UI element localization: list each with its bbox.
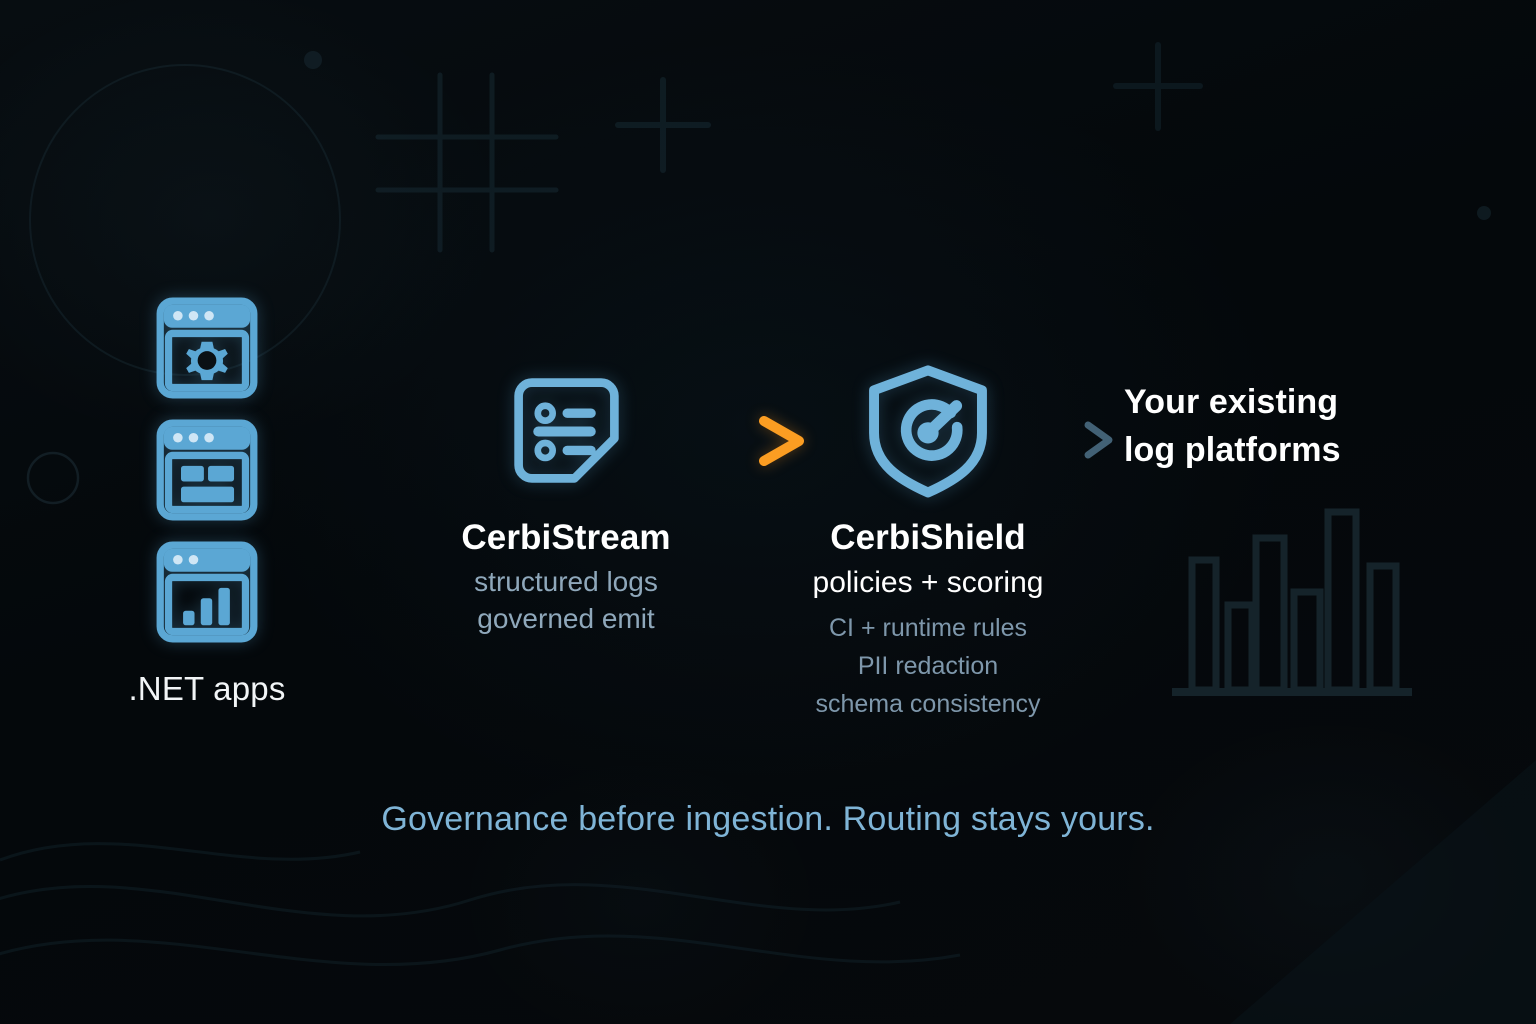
destination-label-line2: log platforms <box>1124 426 1504 474</box>
cerbistream-subtitle-2: governed emit <box>396 600 736 637</box>
cerbishield-subtitle-2: PII redaction <box>758 647 1098 685</box>
document-list-icon <box>500 364 633 497</box>
cerbishield-subtitle-3: schema consistency <box>758 685 1098 723</box>
pipeline-flow: .NET apps CerbiStream structured logs go… <box>0 0 1536 1024</box>
window-layout-icon <box>155 418 259 522</box>
cerbistream-title: CerbiStream <box>396 518 736 557</box>
window-gear-icon <box>155 296 259 400</box>
window-chart-icon <box>155 540 259 644</box>
diagram-canvas: .NET apps CerbiStream structured logs go… <box>0 0 1536 1024</box>
stage-cerbistream: CerbiStream structured logs governed emi… <box>396 360 736 638</box>
shield-gauge-icon <box>857 359 999 501</box>
diagram-caption: Governance before ingestion. Routing sta… <box>0 800 1536 839</box>
cerbishield-title: CerbiShield <box>758 518 1098 557</box>
apps-label: .NET apps <box>52 670 362 708</box>
destination-label: Your existing log platforms <box>1124 378 1504 475</box>
cerbishield-icon-wrap <box>758 360 1098 500</box>
destination-label-line1: Your existing <box>1124 378 1504 426</box>
stage-destination: Your existing log platforms <box>1124 378 1504 475</box>
stage-dotnet-apps: .NET apps <box>52 296 362 708</box>
cerbishield-subtitle-1: CI + runtime rules <box>758 609 1098 647</box>
cerbishield-headline: policies + scoring <box>758 565 1098 601</box>
cerbistream-subtitle-1: structured logs <box>396 563 736 600</box>
cerbistream-icon-wrap <box>396 360 736 500</box>
app-icon-stack <box>52 296 362 644</box>
stage-cerbishield: CerbiShield policies + scoring CI + runt… <box>758 360 1098 723</box>
